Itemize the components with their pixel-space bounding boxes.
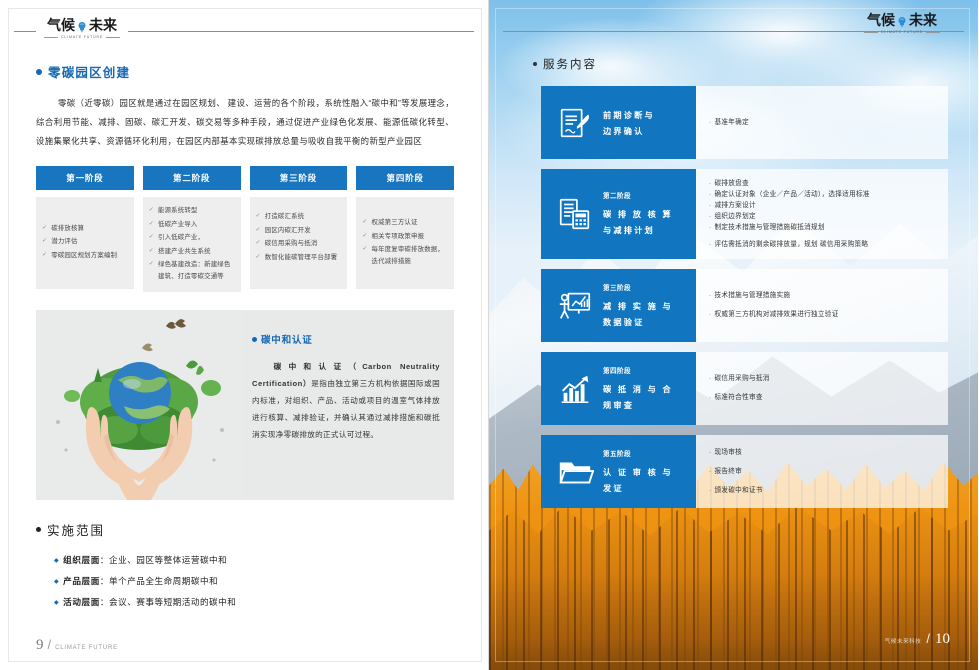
stage-header-3: 第三阶段 [250, 166, 348, 190]
check-icon: ✓ [256, 238, 261, 250]
detail-text: 颁发碳中和证书 [715, 483, 763, 499]
stage-column-4: 第四阶段 ✓权威第三方认证 ✓相关专项政策申报 ✓每年度复审碳排放数据，迭代减排… [356, 166, 454, 292]
right-page-header: 气候 未来 CLIMATE FUTURE [489, 0, 978, 56]
stage-item: ✓零碳园区规划方案编制 [42, 250, 128, 262]
brand-logo-cn-part2: 未来 [89, 17, 117, 33]
stage-header-1: 第一阶段 [36, 166, 134, 190]
presentation-chart-icon [555, 286, 595, 326]
service-name-line1: 碳 抵 消 与 合 [603, 382, 673, 398]
check-icon: ✓ [149, 205, 154, 217]
left-page: 气候 未来 CLIMATE FUTURE [0, 0, 489, 670]
stage-item: ✓碳排放核算 [42, 223, 128, 235]
service-detail-item: ·减排方案设计 [709, 200, 938, 211]
service-row: 第三阶段 减 排 实 施 与 数据验证 ·技术措施与管理措施实施 ·权威第三方机… [541, 269, 948, 342]
service-label-block: 前期诊断与 边界确认 [541, 86, 696, 159]
stage-item-text: 数智化能碳管理平台部署 [265, 252, 342, 264]
service-stage-label: 第四阶段 [603, 364, 673, 380]
service-name-line2: 与减排计划 [603, 223, 673, 239]
service-row: 第五阶段 认 证 审 核 与 发证 ·现场审核 ·报告终审 ·颁发碳中和证书 [541, 435, 948, 508]
service-name-line1: 减 排 实 施 与 [603, 299, 673, 315]
check-icon: ✓ [42, 223, 47, 235]
lightbulb-icon [76, 20, 88, 32]
detail-bullet-icon: · [709, 307, 712, 323]
document-pen-icon [555, 103, 595, 143]
service-content-title: 服务内容 [543, 56, 597, 72]
logo-dash-right [106, 37, 120, 38]
check-icon: ✓ [149, 232, 154, 244]
stage-header-2: 第二阶段 [143, 166, 241, 190]
carbon-neutrality-title: 碳中和认证 [252, 332, 440, 346]
footer-slash: / [926, 631, 930, 646]
logo-dash-right [926, 32, 940, 33]
service-label-block: 第五阶段 认 证 审 核 与 发证 [541, 435, 696, 508]
service-detail-item: ·现场审核 [709, 445, 938, 461]
service-content-header: 服务内容 [533, 56, 948, 72]
scope-header: 实施范围 [36, 520, 454, 539]
stage-item: ✓数智化能碳管理平台部署 [256, 252, 342, 264]
stage-item-text: 园区内碳汇开发 [265, 225, 342, 237]
service-detail-block: ·基准年确定 [696, 86, 948, 159]
detail-bullet-icon: · [709, 117, 712, 128]
page-spread: 气候 未来 CLIMATE FUTURE [0, 0, 979, 670]
detail-bullet-icon: · [709, 390, 712, 406]
intro-paragraph: 零碳（近零碳）园区就是通过在园区规划、 建设、运营的各个阶段，系统性融入“碳中和… [36, 94, 454, 151]
scope-list-item: ◆ 组织层面：企业、园区等整体运营碳中和 [54, 551, 454, 572]
service-name: 第三阶段 减 排 实 施 与 数据验证 [603, 281, 673, 331]
brand-logo-cn: 气候 未来 [867, 12, 937, 28]
service-name-line1: 认 证 审 核 与 [603, 465, 673, 481]
service-name-line1: 前期诊断与 [603, 108, 655, 124]
stage-item-text: 每年度复审碳排放数据，迭代减排措施 [371, 244, 448, 267]
check-icon: ✓ [256, 252, 261, 264]
check-icon: ✓ [362, 244, 367, 267]
scope-item-text: ：会议、赛事等短期活动的碳中和 [100, 597, 236, 607]
detail-text: 报告终审 [715, 464, 743, 480]
service-detail-item: ·碳排放盘查 [709, 178, 938, 189]
bullet-dot-icon [36, 69, 42, 75]
left-page-footer: 9 / CLIMATE FUTURE [36, 637, 118, 654]
lightbulb-icon [896, 15, 908, 27]
service-detail-item: ·评估需抵消的剩余碳排放量，规划 碳信用采购策略 [709, 239, 938, 250]
service-stage-label: 第二阶段 [603, 189, 673, 205]
stage-column-3: 第三阶段 ✓打造碳汇系统 ✓园区内碳汇开发 ✓碳信用采购与抵消 ✓数智化能碳管理… [250, 166, 348, 292]
brand-logo-cn-part1: 气候 [47, 17, 75, 33]
right-page: 气候 未来 CLIMATE FUTURE [489, 0, 978, 670]
check-icon: ✓ [149, 219, 154, 231]
check-icon: ✓ [149, 246, 154, 258]
detail-bullet-icon: · [709, 200, 712, 211]
brand-logo-cn-part2: 未来 [909, 12, 937, 28]
stage-item-text: 相关专项政策申报 [371, 231, 448, 243]
stage-item: ✓搭建产业共生系统 [149, 246, 235, 258]
service-row: 第二阶段 碳 排 放 核 算 与减排计划 ·碳排放盘查 ·确定认证对象（企业／产… [541, 169, 948, 259]
scope-list-item: ◆ 活动层面：会议、赛事等短期活动的碳中和 [54, 593, 454, 614]
logo-dash-left [864, 32, 878, 33]
service-name-line2: 规审查 [603, 398, 673, 414]
bullet-dot-icon [36, 527, 41, 532]
footer-label: CLIMATE FUTURE [55, 645, 118, 651]
stage-item: ✓园区内碳汇开发 [256, 225, 342, 237]
stage-item-text: 引入低碳产业， [158, 232, 235, 244]
service-detail-block: ·碳信用采购与抵消 ·标准符合性审查 [696, 352, 948, 425]
brand-logo-en-text: CLIMATE FUTURE [61, 35, 103, 39]
brand-logo-cn-part1: 气候 [867, 12, 895, 28]
service-label-block: 第三阶段 减 排 实 施 与 数据验证 [541, 269, 696, 342]
detail-bullet-icon: · [709, 483, 712, 499]
stage-column-2: 第二阶段 ✓能源系统转型 ✓低碳产业导入 ✓引入低碳产业， ✓搭建产业共生系统 … [143, 166, 241, 292]
check-icon: ✓ [42, 250, 47, 262]
service-detail-item: ·碳信用采购与抵消 [709, 371, 938, 387]
stage-columns: 第一阶段 ✓碳排放核算 ✓潜力评估 ✓零碳园区规划方案编制 第二阶段 ✓能源系统… [36, 166, 454, 292]
hands-earth-image [36, 310, 242, 500]
service-list: 前期诊断与 边界确认 ·基准年确定 [533, 86, 948, 508]
detail-text: 确定认证对象（企业／产品／活动），选择适用标准 [715, 189, 870, 200]
page-number: 10 [935, 631, 950, 648]
stage-item-text: 权威第三方认证 [371, 217, 448, 229]
brand-logo-en: CLIMATE FUTURE [44, 35, 120, 39]
check-icon: ✓ [362, 231, 367, 243]
stage-header-4: 第四阶段 [356, 166, 454, 190]
carbon-neutrality-lead-cn: 碳中和认证 [268, 362, 349, 371]
detail-text: 标准符合性审查 [715, 390, 763, 406]
check-icon: ✓ [42, 236, 47, 248]
stage-item: ✓每年度复审碳排放数据，迭代减排措施 [362, 244, 448, 267]
stage-item: ✓碳信用采购与抵消 [256, 238, 342, 250]
detail-text: 现场审核 [715, 445, 743, 461]
brand-logo-en-text: CLIMATE FUTURE [881, 30, 923, 34]
stage-item: ✓引入低碳产业， [149, 232, 235, 244]
carbon-neutrality-body-text: 是指由独立第三方机构依据国际或国内标准，对组织、产品、活动或项目的温室气体排放进… [252, 379, 440, 439]
right-page-body: 服务内容 [489, 56, 978, 508]
service-name: 第二阶段 碳 排 放 核 算 与减排计划 [603, 189, 673, 239]
stage-item: ✓绿色基建改造：新建绿色建筑、打造零碳交通等 [149, 259, 235, 282]
folder-icon [555, 452, 595, 492]
service-detail-item: ·组织边界划定 [709, 211, 938, 222]
check-icon: ✓ [256, 211, 261, 223]
detail-bullet-icon: · [709, 445, 712, 461]
scope-item-label: 活动层面 [63, 597, 100, 607]
left-page-header: 气候 未来 CLIMATE FUTURE [0, 0, 488, 56]
detail-text: 碳排放盘查 [715, 178, 749, 189]
stage-body-4: ✓权威第三方认证 ✓相关专项政策申报 ✓每年度复审碳排放数据，迭代减排措施 [356, 197, 454, 289]
stage-item: ✓打造碳汇系统 [256, 211, 342, 223]
detail-bullet-icon: · [709, 211, 712, 222]
stage-item-text: 零碳园区规划方案编制 [51, 250, 128, 262]
service-detail-item: ·技术措施与管理措施实施 [709, 288, 938, 304]
stage-item-text: 能源系统转型 [158, 205, 235, 217]
page-number: 9 [36, 637, 44, 654]
detail-text: 基准年确定 [715, 117, 749, 128]
stage-item-text: 搭建产业共生系统 [158, 246, 235, 258]
stage-body-3: ✓打造碳汇系统 ✓园区内碳汇开发 ✓碳信用采购与抵消 ✓数智化能碳管理平台部署 [250, 197, 348, 289]
scope-item-text: ：单个产品全生命周期碳中和 [100, 576, 218, 586]
footer-slash: / [48, 637, 52, 652]
growth-bar-chart-icon [555, 369, 595, 409]
service-detail-block: ·技术措施与管理措施实施 ·权威第三方机构对减排效果进行独立验证 [696, 269, 948, 342]
carbon-neutrality-text: 碳中和认证 碳中和认证（Carbon Neutrality Certificat… [242, 310, 454, 500]
calculator-document-icon [555, 194, 595, 234]
stage-item: ✓能源系统转型 [149, 205, 235, 217]
detail-text: 组织边界划定 [715, 211, 756, 222]
section-header-zero-carbon-park: 零碳园区创建 [36, 62, 454, 81]
detail-bullet-icon: · [709, 371, 712, 387]
check-icon: ✓ [149, 259, 154, 282]
service-detail-item: ·制定技术措施与管理措施碳抵消规划 [709, 222, 938, 233]
service-name-line2: 数据验证 [603, 315, 673, 331]
detail-bullet-icon: · [709, 464, 712, 480]
stage-item: ✓低碳产业导入 [149, 219, 235, 231]
detail-bullet-icon: · [709, 239, 712, 250]
service-name: 第四阶段 碳 抵 消 与 合 规审查 [603, 364, 673, 414]
scope-item-label: 组织层面 [63, 555, 100, 565]
section-title-text: 零碳园区创建 [48, 62, 130, 81]
service-stage-label: 第三阶段 [603, 281, 673, 297]
bullet-dot-icon [533, 62, 537, 66]
stage-body-2: ✓能源系统转型 ✓低碳产业导入 ✓引入低碳产业， ✓搭建产业共生系统 ✓绿色基建… [143, 197, 241, 292]
stage-item-text: 绿色基建改造：新建绿色建筑、打造零碳交通等 [158, 259, 235, 282]
check-icon: ✓ [256, 225, 261, 237]
carbon-neutrality-card: 碳中和认证 碳中和认证（Carbon Neutrality Certificat… [36, 310, 454, 500]
detail-text: 碳信用采购与抵消 [715, 371, 770, 387]
detail-text: 权威第三方机构对减排效果进行独立验证 [715, 307, 839, 323]
stage-item: ✓相关专项政策申报 [362, 231, 448, 243]
service-detail-block: ·现场审核 ·报告终审 ·颁发碳中和证书 [696, 435, 948, 508]
check-icon: ✓ [362, 217, 367, 229]
service-row: 前期诊断与 边界确认 ·基准年确定 [541, 86, 948, 159]
logo-dash-left [44, 37, 58, 38]
brand-logo-en: CLIMATE FUTURE [864, 30, 940, 34]
diamond-bullet-icon: ◆ [54, 552, 59, 571]
detail-bullet-icon: · [709, 222, 712, 233]
service-detail-item: ·基准年确定 [709, 117, 938, 128]
stage-body-1: ✓碳排放核算 ✓潜力评估 ✓零碳园区规划方案编制 [36, 197, 134, 289]
stage-column-1: 第一阶段 ✓碳排放核算 ✓潜力评估 ✓零碳园区规划方案编制 [36, 166, 134, 292]
footer-label: 气候未来科技 [885, 637, 922, 645]
scope-item-label: 产品层面 [63, 576, 100, 586]
brand-logo: 气候 未来 CLIMATE FUTURE [36, 17, 128, 39]
stage-item-text: 打造碳汇系统 [265, 211, 342, 223]
stage-item-text: 碳信用采购与抵消 [265, 238, 342, 250]
detail-bullet-icon: · [709, 288, 712, 304]
stage-item: ✓潜力评估 [42, 236, 128, 248]
service-detail-block: ·碳排放盘查 ·确定认证对象（企业／产品／活动），选择适用标准 ·减排方案设计 … [696, 169, 948, 259]
scope-list: ◆ 组织层面：企业、园区等整体运营碳中和 ◆ 产品层面：单个产品全生命周期碳中和… [36, 551, 454, 614]
carbon-neutrality-title-text: 碳中和认证 [261, 332, 313, 346]
carbon-neutrality-body: 碳中和认证（Carbon Neutrality Certification）是指… [252, 358, 440, 443]
brand-logo-cn: 气候 未来 [47, 17, 117, 33]
service-row: 第四阶段 碳 抵 消 与 合 规审查 ·碳信用采购与抵消 ·标准符合性审查 [541, 352, 948, 425]
stage-item-text: 低碳产业导入 [158, 219, 235, 231]
implementation-scope-section: 实施范围 ◆ 组织层面：企业、园区等整体运营碳中和 ◆ 产品层面：单个产品全生命… [36, 520, 454, 614]
scope-list-item: ◆ 产品层面：单个产品全生命周期碳中和 [54, 572, 454, 593]
intro-paragraph-text: 零碳（近零碳）园区就是通过在园区规划、 建设、运营的各个阶段，系统性融入“碳中和… [36, 98, 454, 146]
service-name: 第五阶段 认 证 审 核 与 发证 [603, 447, 673, 497]
service-detail-item: ·颁发碳中和证书 [709, 483, 938, 499]
right-page-footer: 气候未来科技 / 10 [885, 631, 950, 648]
service-name-line2: 发证 [603, 481, 673, 497]
stage-item: ✓权威第三方认证 [362, 217, 448, 229]
scope-title-text: 实施范围 [47, 520, 105, 539]
diamond-bullet-icon: ◆ [54, 594, 59, 613]
stage-item-text: 碳排放核算 [51, 223, 128, 235]
detail-text: 减排方案设计 [715, 200, 756, 211]
brand-logo: 气候 未来 CLIMATE FUTURE [856, 12, 948, 34]
service-detail-item: ·权威第三方机构对减排效果进行独立验证 [709, 307, 938, 323]
service-name-line2: 边界确认 [603, 124, 655, 140]
service-detail-item: ·报告终审 [709, 464, 938, 480]
detail-text: 评估需抵消的剩余碳排放量，规划 碳信用采购策略 [715, 239, 869, 250]
service-detail-item: ·确定认证对象（企业／产品／活动），选择适用标准 [709, 189, 938, 200]
service-label-block: 第二阶段 碳 排 放 核 算 与减排计划 [541, 169, 696, 259]
service-name-line1: 碳 排 放 核 算 [603, 207, 673, 223]
service-stage-label: 第五阶段 [603, 447, 673, 463]
scope-item-text: ：企业、园区等整体运营碳中和 [100, 555, 227, 565]
service-label-block: 第四阶段 碳 抵 消 与 合 规审查 [541, 352, 696, 425]
hands-holding-earth-illustration [36, 310, 242, 500]
detail-bullet-icon: · [709, 178, 712, 189]
stage-item-text: 潜力评估 [51, 236, 128, 248]
detail-text: 制定技术措施与管理措施碳抵消规划 [715, 222, 825, 233]
left-page-body: 零碳园区创建 零碳（近零碳）园区就是通过在园区规划、 建设、运营的各个阶段，系统… [0, 62, 488, 614]
service-detail-item: ·标准符合性审查 [709, 390, 938, 406]
diamond-bullet-icon: ◆ [54, 573, 59, 592]
detail-bullet-icon: · [709, 189, 712, 200]
service-name: 前期诊断与 边界确认 [603, 106, 655, 140]
bullet-dot-icon [252, 337, 257, 342]
detail-text: 技术措施与管理措施实施 [715, 288, 791, 304]
